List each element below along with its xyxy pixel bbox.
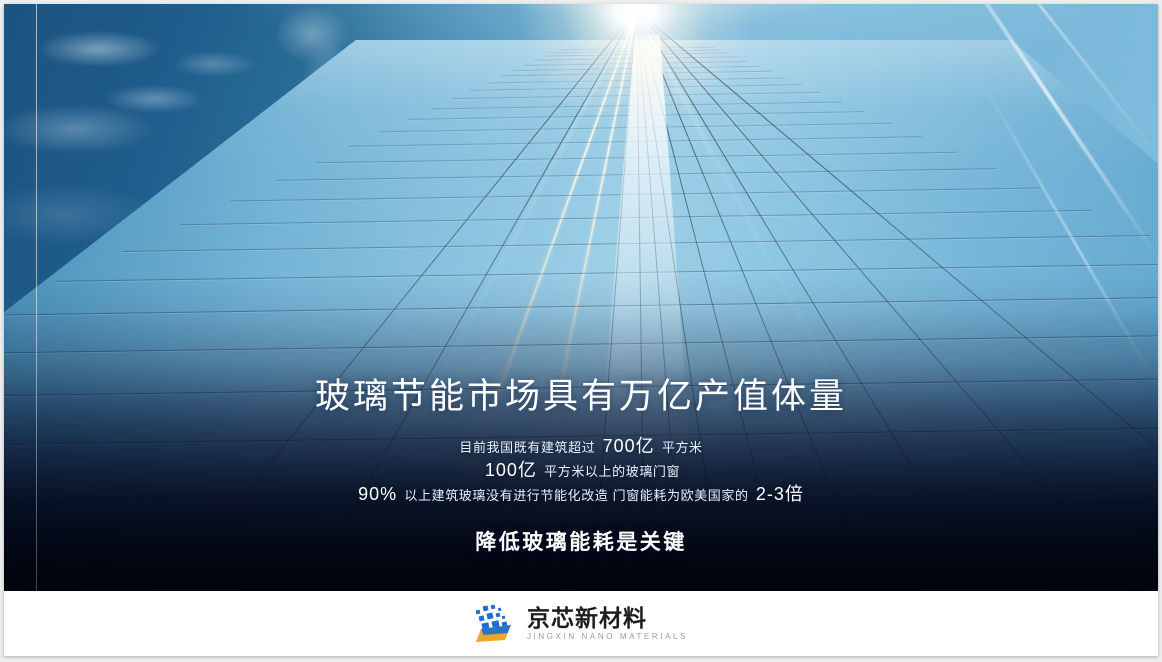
hero-image-glass-skyscraper: 玻璃节能市场具有万亿产值体量 目前我国既有建筑超过 700亿 平方米 100亿 … bbox=[4, 4, 1158, 591]
stat3-number-2: 2-3倍 bbox=[753, 484, 807, 504]
brand-logo: 京芯新材料 JINGXIN NANO MATERIALS bbox=[474, 604, 688, 644]
key-message: 降低玻璃能耗是关键 bbox=[4, 526, 1158, 556]
page-title: 玻璃节能市场具有万亿产值体量 bbox=[4, 376, 1158, 419]
stat3-number: 90% bbox=[355, 484, 400, 504]
stat1-number: 700亿 bbox=[600, 436, 658, 456]
stat2-suffix: 平方米以上的玻璃门窗 bbox=[544, 464, 680, 479]
statistics-list: 目前我国既有建筑超过 700亿 平方米 100亿 平方米以上的玻璃门窗 90% … bbox=[4, 435, 1158, 507]
brand-name-en: JINGXIN NANO MATERIALS bbox=[527, 633, 688, 641]
stat2-number: 100亿 bbox=[482, 460, 540, 480]
statistic-line-2: 100亿 平方米以上的玻璃门窗 bbox=[4, 459, 1158, 483]
slide-footer: 京芯新材料 JINGXIN NANO MATERIALS bbox=[4, 591, 1158, 656]
logo-mark-icon bbox=[474, 604, 518, 644]
brand-text: 京芯新材料 JINGXIN NANO MATERIALS bbox=[527, 607, 688, 641]
statistic-line-3: 90% 以上建筑玻璃没有进行节能化改造 门窗能耗为欧美国家的 2-3倍 bbox=[4, 483, 1158, 507]
brand-name-cn: 京芯新材料 bbox=[527, 607, 647, 630]
stat1-suffix: 平方米 bbox=[662, 440, 703, 455]
stat1-prefix: 目前我国既有建筑超过 bbox=[459, 440, 595, 455]
stat3-middle: 以上建筑玻璃没有进行节能化改造 门窗能耗为欧美国家的 bbox=[404, 488, 748, 503]
statistic-line-1: 目前我国既有建筑超过 700亿 平方米 bbox=[4, 435, 1158, 459]
sun-ray-9 bbox=[634, 10, 638, 310]
presentation-slide: 玻璃节能市场具有万亿产值体量 目前我国既有建筑超过 700亿 平方米 100亿 … bbox=[4, 4, 1158, 656]
caption-block: 玻璃节能市场具有万亿产值体量 目前我国既有建筑超过 700亿 平方米 100亿 … bbox=[4, 376, 1158, 556]
